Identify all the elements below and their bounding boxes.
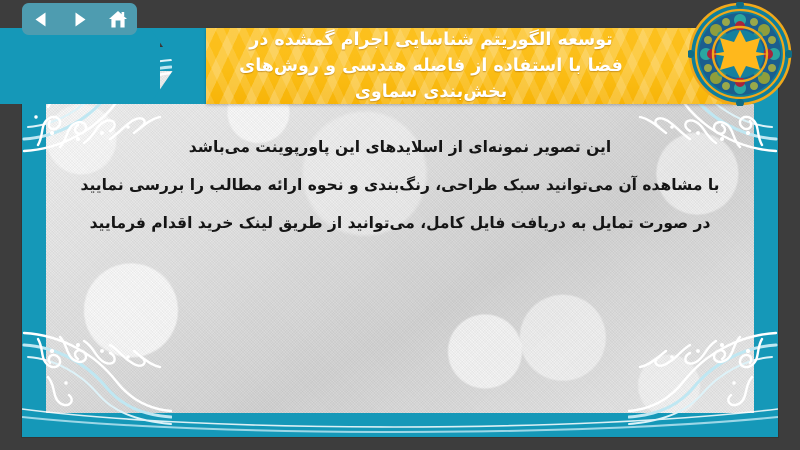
body-line-3: در صورت تمایل به دریافت فایل کامل، می‌تو… bbox=[60, 204, 740, 242]
slide-viewer: توسعه الگوریتم شناسایی اجرام گمشده در فض… bbox=[0, 0, 800, 450]
slide-navigation-bar bbox=[22, 3, 137, 35]
title-banner: توسعه الگوریتم شناسایی اجرام گمشده در فض… bbox=[206, 28, 734, 104]
banner-left-teal-band bbox=[0, 28, 160, 104]
page-title: توسعه الگوریتم شناسایی اجرام گمشده در فض… bbox=[221, 27, 719, 105]
islamic-medallion bbox=[688, 2, 792, 106]
slide-frame bbox=[22, 47, 778, 437]
next-slide-button[interactable] bbox=[64, 6, 94, 32]
slide-body-text: این تصویر نمونه‌ای از اسلایدهای این پاور… bbox=[60, 128, 740, 242]
previous-slide-button[interactable] bbox=[26, 6, 56, 32]
back-triangle-icon bbox=[33, 11, 50, 28]
body-line-2: با مشاهده آن می‌توانید سبک طراحی، رنگ‌بن… bbox=[60, 166, 740, 204]
forward-triangle-icon bbox=[71, 11, 88, 28]
slide-canvas bbox=[46, 71, 754, 413]
body-line-1: این تصویر نمونه‌ای از اسلایدهای این پاور… bbox=[60, 128, 740, 166]
home-icon bbox=[108, 10, 128, 29]
home-button[interactable] bbox=[103, 6, 133, 32]
